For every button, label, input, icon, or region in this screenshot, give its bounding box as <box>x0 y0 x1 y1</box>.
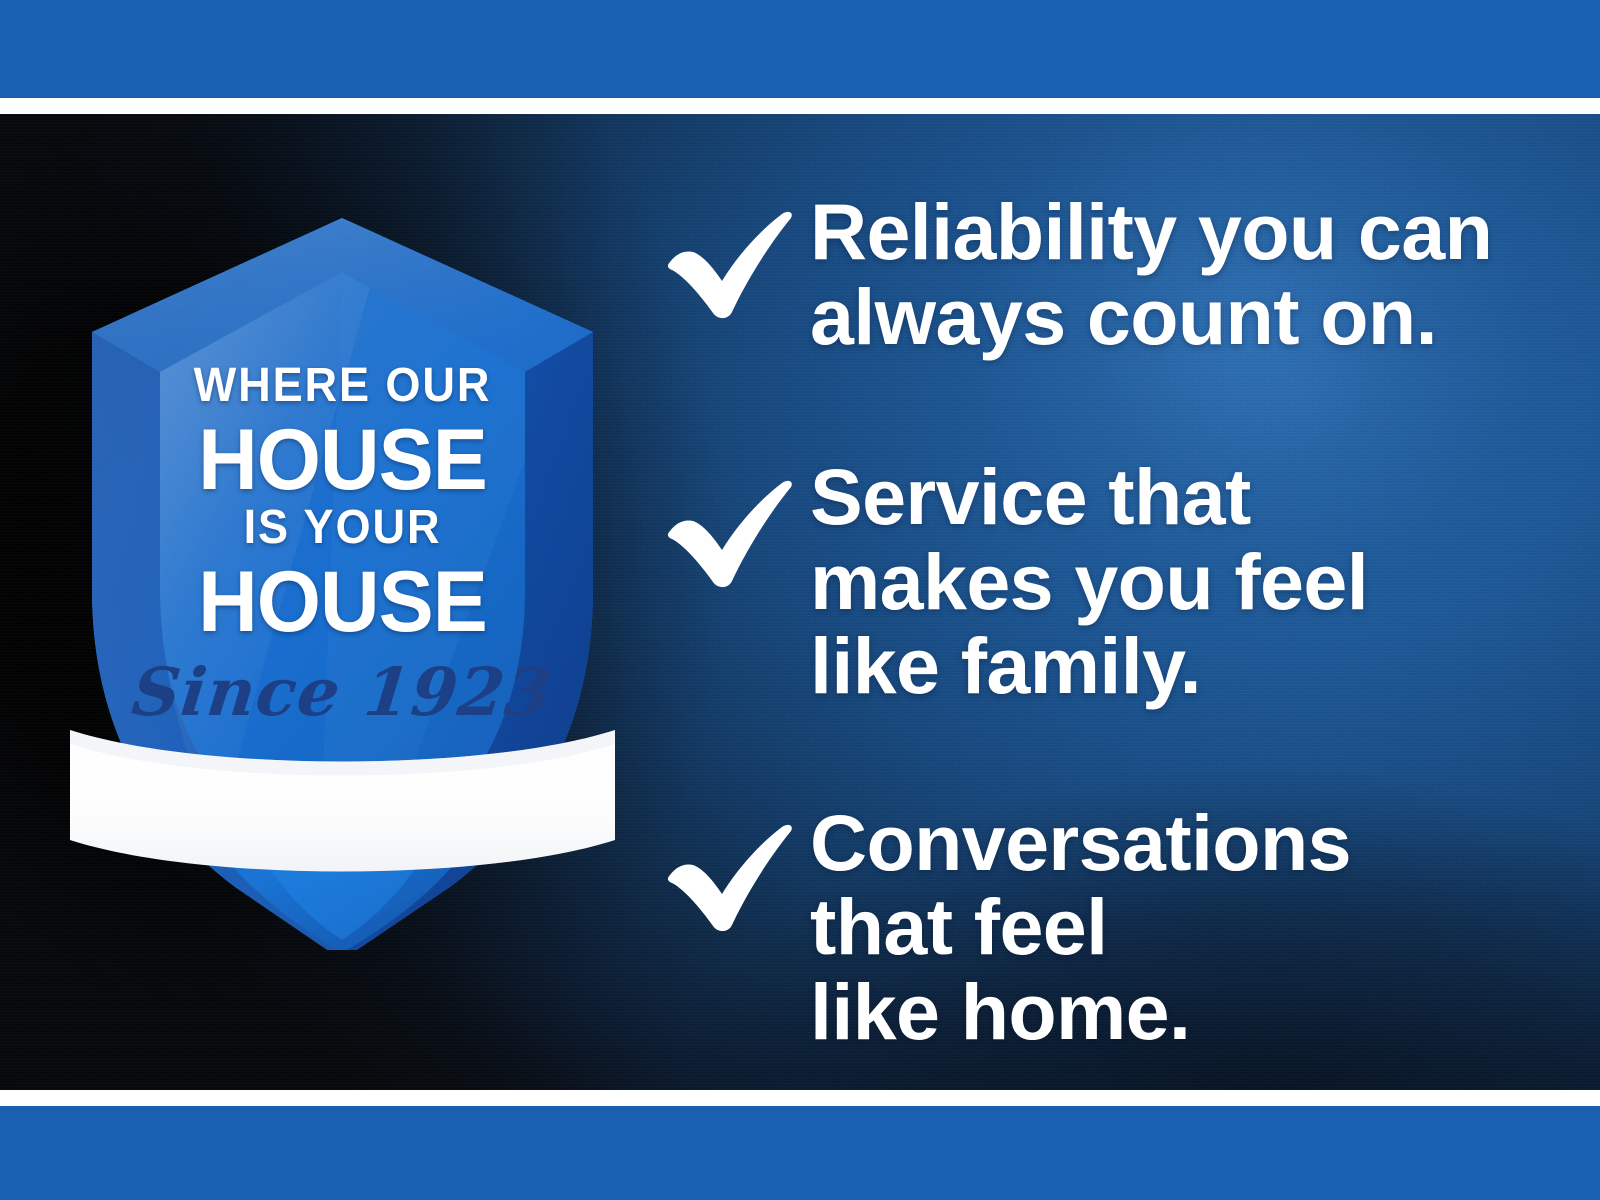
list-item-text: Reliability you can always count on. <box>810 190 1492 359</box>
bottom-white-divider <box>0 1090 1600 1106</box>
checkmark-icon <box>660 455 810 589</box>
top-brand-bar <box>0 0 1600 98</box>
benefits-list: Reliability you can always count on. Ser… <box>660 190 1550 1054</box>
top-white-divider <box>0 98 1600 114</box>
promo-graphic: WHERE OUR HOUSE IS YOUR HOUSE Since 1923… <box>0 0 1600 1200</box>
list-item-text: Service that makes you feel like family. <box>810 455 1368 709</box>
bottom-brand-bar <box>0 1106 1600 1200</box>
shield-badge-icon <box>70 160 615 950</box>
list-item-text: Conversations that feel like home. <box>810 801 1351 1055</box>
list-item: Conversations that feel like home. <box>660 801 1550 1055</box>
shield-badge: WHERE OUR HOUSE IS YOUR HOUSE Since 1923 <box>70 160 615 950</box>
checkmark-icon <box>660 801 810 933</box>
list-item: Reliability you can always count on. <box>660 190 1550 359</box>
list-item: Service that makes you feel like family. <box>660 455 1550 709</box>
checkmark-icon <box>660 190 810 320</box>
